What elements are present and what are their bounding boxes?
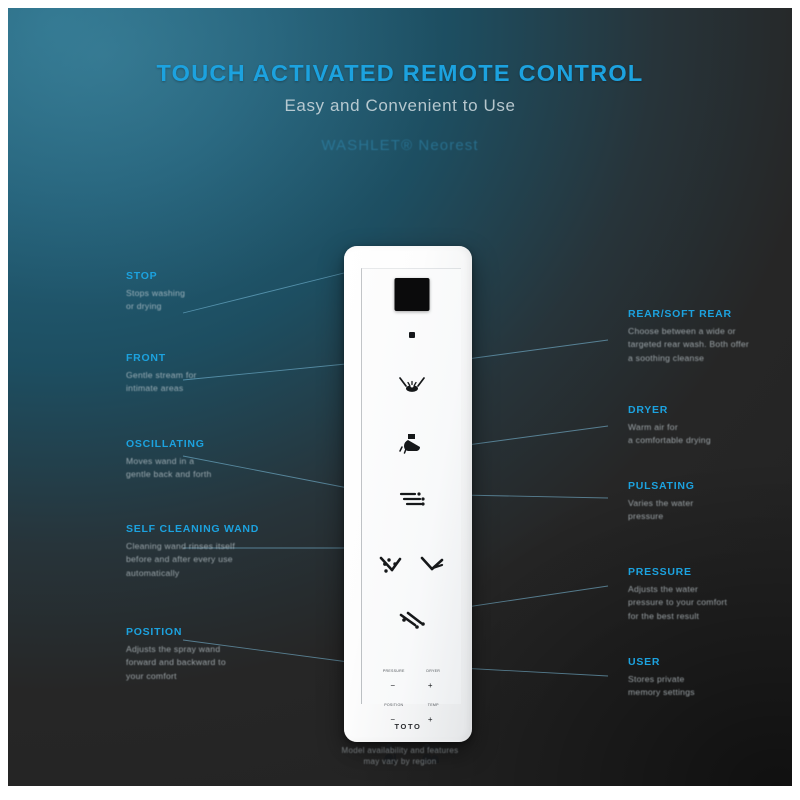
micro-label-dryer: DRYER [426, 669, 440, 673]
remote-face-panel: PRESSURE DRYER − + POSITION TEMP − + [361, 268, 461, 704]
pressure-minus-button[interactable]: − [390, 681, 395, 690]
product-name: WASHLET® Neorest [8, 137, 792, 154]
callout-body: Stops washing or drying [126, 287, 304, 314]
callout-body: Adjusts the water pressure to your comfo… [628, 583, 792, 623]
callout-rear-soft-rear: REAR/SOFT REAR Choose between a wide or … [628, 308, 792, 365]
header-block: TOUCH ACTIVATED REMOTE CONTROL Easy and … [8, 60, 792, 154]
micro-label-row-2: POSITION TEMP [362, 703, 461, 707]
dryer-icon-button[interactable] [419, 555, 445, 580]
button-pair-pulsating-dryer [362, 555, 461, 580]
screenshot-stage: TOUCH ACTIVATED REMOTE CONTROL Easy and … [0, 0, 800, 800]
callout-position: POSITION Adjusts the spray wand forward … [126, 626, 304, 683]
remote-display-screen [394, 278, 429, 311]
dryer-plus-button[interactable]: + [428, 681, 433, 690]
wire-user [460, 668, 608, 676]
callout-body: Adjusts the spray wand forward and backw… [126, 643, 304, 683]
front-spray-icon-button[interactable] [398, 377, 426, 393]
callout-title: USER [628, 656, 792, 668]
callout-body: Stores private memory settings [628, 673, 792, 700]
callout-body: Gentle stream for intimate areas [126, 369, 304, 396]
micro-label-position: POSITION [384, 703, 403, 707]
marketing-panel: TOUCH ACTIVATED REMOTE CONTROL Easy and … [8, 8, 792, 786]
callout-body: Cleaning wand rinses itself before and a… [126, 540, 318, 580]
oscillating-icon-button[interactable] [398, 491, 426, 509]
wire-dryer [460, 426, 608, 446]
callout-title: OSCILLATING [126, 438, 304, 450]
callout-pressure: PRESSURE Adjusts the water pressure to y… [628, 566, 792, 623]
callout-title: PULSATING [628, 480, 792, 492]
callout-user: USER Stores private memory settings [628, 656, 792, 700]
self-cleaning-wand-icon-button[interactable] [397, 611, 427, 631]
toto-brand-logo: TOTO [344, 722, 472, 731]
callout-body: Varies the water pressure [628, 497, 792, 524]
micro-label-row-1: PRESSURE DRYER [362, 669, 461, 673]
rear-spray-icon-button[interactable] [399, 432, 425, 454]
callout-title: REAR/SOFT REAR [628, 308, 792, 320]
callout-title: SELF CLEANING WAND [126, 523, 318, 535]
footnote-text: Model availability and features may vary… [8, 745, 792, 768]
pulsating-icon-button[interactable] [378, 555, 404, 580]
callout-body: Choose between a wide or targeted rear w… [628, 325, 792, 365]
micro-label-temp: TEMP [428, 703, 439, 707]
remote-control-device: PRESSURE DRYER − + POSITION TEMP − + [344, 246, 472, 742]
callout-oscillating: OSCILLATING Moves wand in a gentle back … [126, 438, 304, 482]
callout-body: Moves wand in a gentle back and forth [126, 455, 304, 482]
callout-stop: STOP Stops washing or drying [126, 270, 304, 314]
wire-pressure [460, 586, 608, 608]
page-title: TOUCH ACTIVATED REMOTE CONTROL [8, 60, 792, 87]
wire-pulsating [460, 495, 608, 498]
wire-rear [460, 340, 608, 360]
callout-body: Warm air for a comfortable drying [628, 421, 792, 448]
page-subtitle: Easy and Convenient to Use [8, 96, 792, 116]
callout-pulsating: PULSATING Varies the water pressure [628, 480, 792, 524]
callout-title: FRONT [126, 352, 304, 364]
callout-title: PRESSURE [628, 566, 792, 578]
callout-self-cleaning-wand: SELF CLEANING WAND Cleaning wand rinses … [126, 523, 318, 580]
callout-dryer: DRYER Warm air for a comfortable drying [628, 404, 792, 448]
callout-title: POSITION [126, 626, 304, 638]
pressure-stepper-row: − + [362, 681, 461, 690]
callout-front: FRONT Gentle stream for intimate areas [126, 352, 304, 396]
callout-title: DRYER [628, 404, 792, 416]
callout-title: STOP [126, 270, 304, 282]
stop-button[interactable] [409, 332, 415, 338]
micro-label-pressure: PRESSURE [383, 669, 405, 673]
